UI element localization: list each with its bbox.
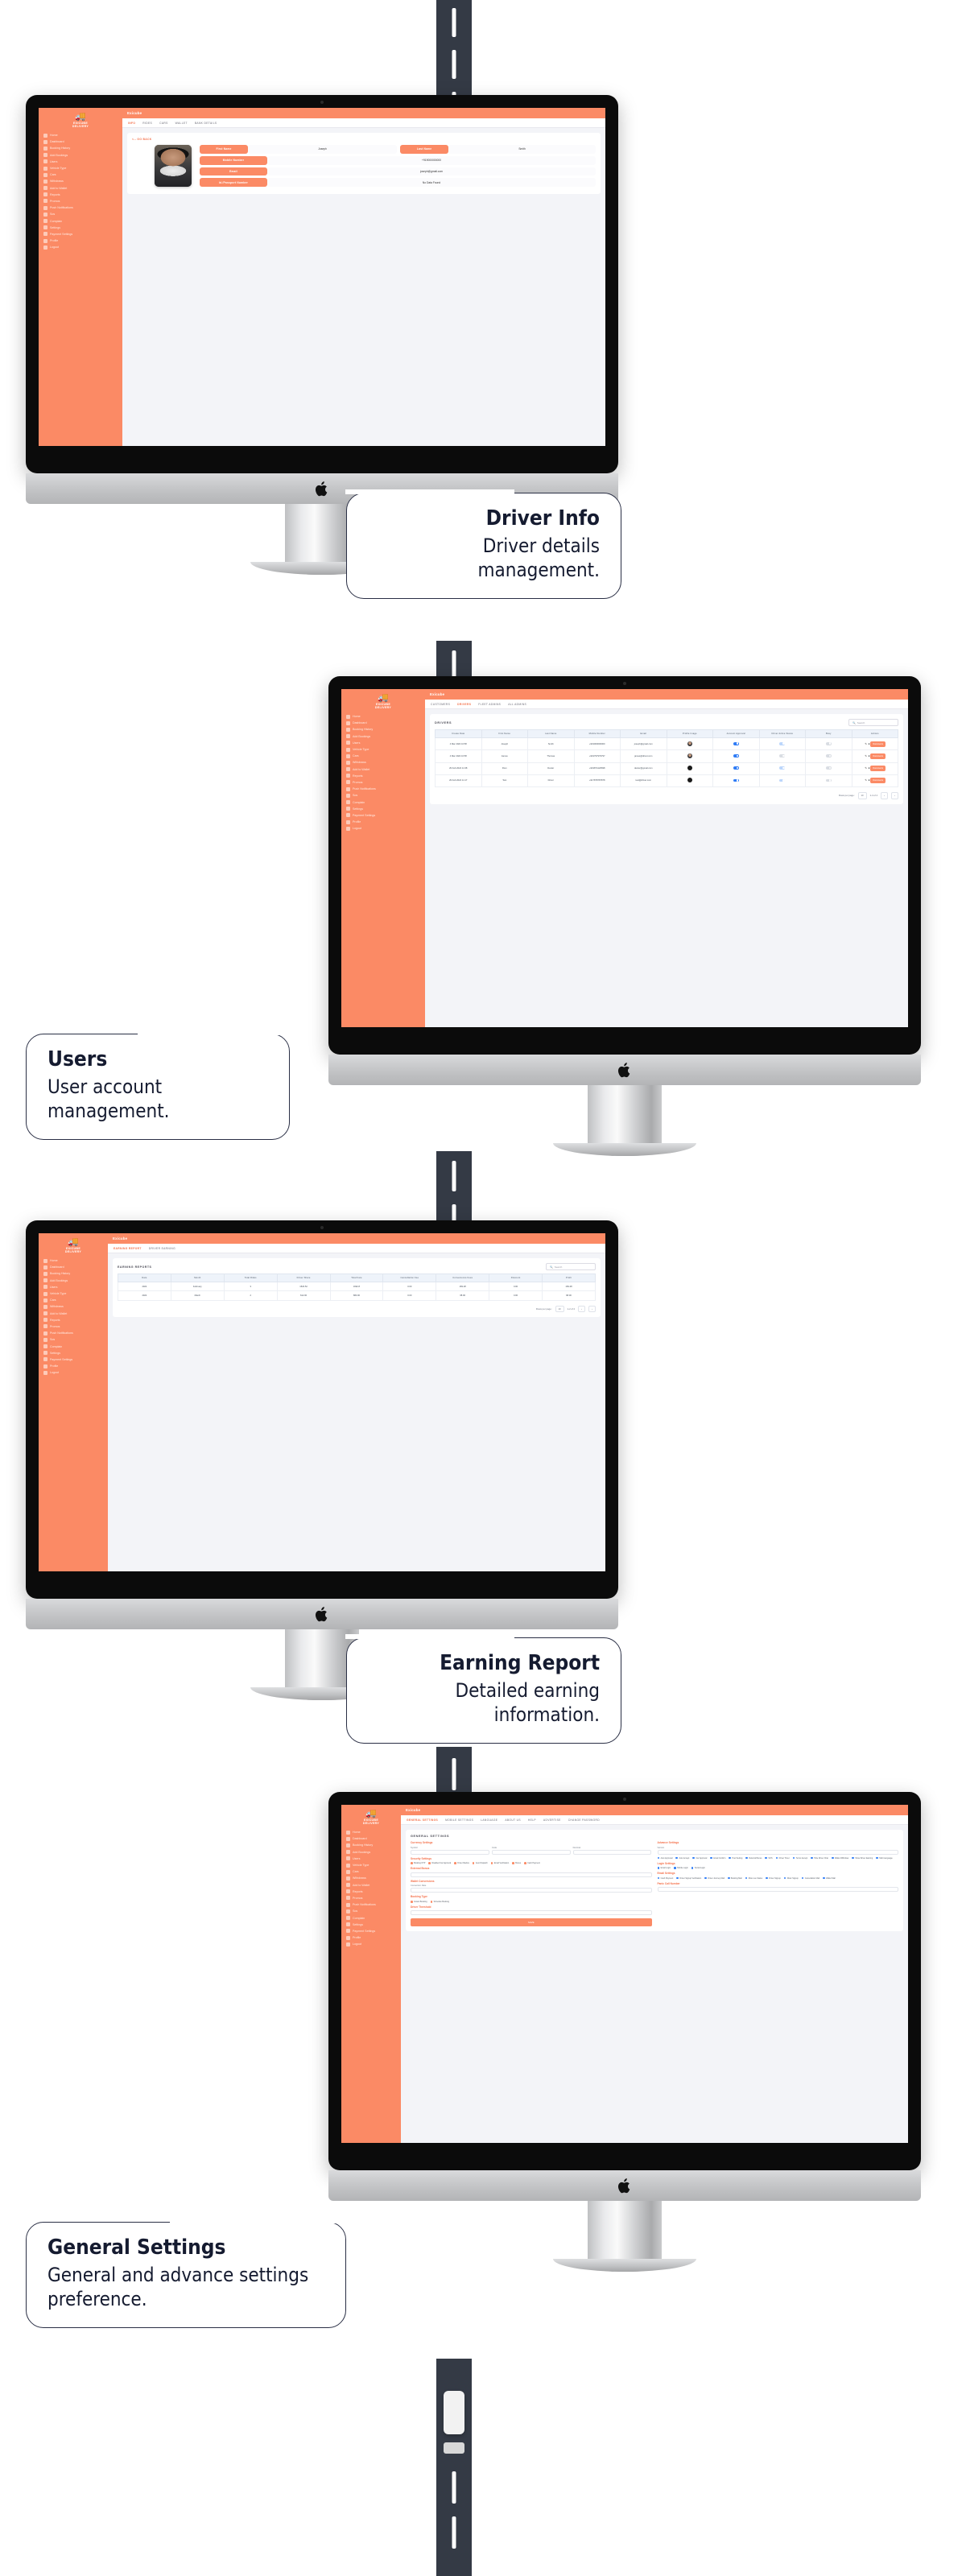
sidebar-item-reports[interactable]: Reports	[39, 192, 122, 198]
option-label: Show Driver Earning	[855, 1857, 873, 1860]
tab-general-settings[interactable]: GENERAL SETTINGS	[407, 1818, 438, 1822]
toggle-approval[interactable]	[733, 766, 739, 770]
sidebar-item-profile[interactable]: Profile	[39, 1363, 108, 1369]
toggle-approval[interactable]	[733, 754, 739, 758]
add-booking-icon	[346, 1850, 350, 1854]
home-icon	[346, 715, 350, 719]
report-icon	[346, 774, 350, 778]
sidebar-item-push-notifications[interactable]: Push Notifications	[39, 204, 122, 211]
checkbox-icon	[658, 1867, 660, 1869]
sidebar-item-add-to-wallet[interactable]: Add to Wallet	[341, 1881, 401, 1888]
sidebar-item-add-bookings[interactable]: Add Bookings	[39, 152, 122, 159]
mobile-number-label: Mobile Number	[200, 156, 267, 165]
last-name-value[interactable]: Smith	[448, 145, 596, 154]
truck-icon: 🚚	[341, 1810, 401, 1818]
tab-change-password[interactable]: CHANGE PASSWORD	[568, 1818, 600, 1822]
sidebar-item-logout[interactable]: Logout	[39, 1369, 108, 1376]
option-email-cash-payment[interactable]: Cash Payment	[658, 1877, 674, 1880]
sidebar-item-payment-settings[interactable]: Payment Settings	[341, 812, 425, 819]
toggle-busy[interactable]	[826, 779, 832, 782]
toggle-approval[interactable]	[733, 779, 739, 782]
tab-earning-report[interactable]: EARNING REPORT	[114, 1247, 142, 1250]
sidebar-item-settings[interactable]: Settings	[39, 1350, 108, 1356]
currency-symbol-label: Symbol	[411, 1847, 489, 1849]
cell-actions[interactable]: ✎●Documents	[852, 762, 898, 774]
delete-icon[interactable]: ●	[869, 778, 870, 782]
sidebar-item-logout[interactable]: Logout	[341, 825, 425, 832]
delete-icon[interactable]: ●	[869, 754, 870, 758]
sidebar-item-reports[interactable]: Reports	[39, 1317, 108, 1323]
cell-active-status[interactable]	[759, 750, 806, 762]
col-total-rides[interactable]: Total Rides	[224, 1274, 277, 1282]
sidebar-item-promos[interactable]: Promos	[341, 1895, 401, 1901]
option-label: Cancellation Mail	[805, 1877, 819, 1880]
sidebar-item-booking-history[interactable]: Booking History	[39, 145, 122, 151]
edit-icon[interactable]: ✎	[865, 754, 867, 758]
general-settings-card: GENERAL SETTINGS Currency Settings Symbo…	[406, 1830, 903, 1931]
checkbox-icon	[658, 1877, 660, 1880]
checkbox-icon	[704, 1877, 707, 1880]
sidebar-item-sos[interactable]: Sos	[39, 1336, 108, 1343]
sidebar-item-label: Logout	[353, 1942, 361, 1946]
sidebar-item-label: Withdraws	[353, 761, 366, 764]
sidebar-item-users[interactable]: Users	[341, 740, 425, 746]
cell-actions[interactable]: ✎●Documents	[852, 738, 898, 750]
next-page-button[interactable]: ›	[891, 792, 898, 799]
option-label: Driver Journey Mail	[708, 1877, 724, 1880]
topbar-title: Exicube	[122, 108, 605, 118]
settings-left-column: Currency Settings Symbol Code Decimal Se…	[411, 1841, 652, 1926]
option-label: Email Confirm	[713, 1857, 725, 1860]
sidebar-item-cars[interactable]: Cars	[39, 1297, 108, 1303]
checkbox-icon	[852, 1857, 854, 1860]
sidebar-item-label: Promos	[50, 200, 60, 203]
cell-busy[interactable]	[806, 750, 852, 762]
currency-code-input[interactable]	[492, 1850, 571, 1855]
sidebar-item-label: Complain	[353, 801, 365, 804]
external-bonus-input[interactable]	[411, 1872, 652, 1877]
sidebar-item-booking-history[interactable]: Booking History	[341, 726, 425, 733]
wallet-icon	[43, 186, 47, 190]
first-name-value[interactable]: Joseph	[248, 145, 397, 154]
documents-button[interactable]: Documents	[870, 741, 885, 747]
car-icon	[43, 173, 47, 177]
tab-customers[interactable]: CUSTOMERS	[431, 703, 450, 706]
sos-icon	[43, 213, 47, 217]
brand-logo: 🚚 EXICUBE DELIVERY	[341, 1805, 401, 1829]
payment-icon	[346, 813, 350, 817]
sidebar-item-home[interactable]: Home	[341, 713, 425, 720]
option-disabled-car-approval[interactable]: Disabled Car Approval	[428, 1862, 451, 1864]
next-page-button[interactable]: ›	[588, 1306, 596, 1313]
delete-icon[interactable]: ●	[869, 766, 870, 770]
option-label: SOS	[769, 1857, 773, 1860]
sidebar-item-profile[interactable]: Profile	[39, 237, 122, 244]
col-convenience-fees[interactable]: Convenience Fees	[436, 1274, 489, 1282]
option-auto-approval[interactable]: Auto Approval	[658, 1857, 673, 1860]
checkbox-icon	[832, 1857, 834, 1860]
home-icon	[43, 134, 47, 138]
cell-account-approval[interactable]	[713, 750, 760, 762]
col-driver-active-status[interactable]: Driver Active Status	[759, 730, 806, 738]
wallet-icon	[346, 1883, 350, 1887]
option-auto-accept[interactable]: Auto Accept	[675, 1857, 689, 1860]
sidebar-item-withdraws[interactable]: Withdraws	[341, 759, 425, 766]
tab-advertise[interactable]: ADVERTISE	[543, 1818, 561, 1822]
option-auto-dispatch[interactable]: Auto Dispatch	[473, 1862, 488, 1864]
tab-rides[interactable]: RIDES	[142, 122, 152, 125]
col-last-name[interactable]: Last Name	[528, 730, 575, 738]
cell-active-status[interactable]	[759, 762, 806, 774]
users-icon	[346, 1856, 350, 1860]
sidebar-item-users[interactable]: Users	[39, 1284, 108, 1290]
option-wallet-withdraw[interactable]: Wallet Withdraw	[832, 1857, 848, 1860]
option-ride-live-status[interactable]: Ride Live Status	[745, 1877, 763, 1880]
complain-icon	[43, 219, 47, 223]
sidebar-item-promos[interactable]: Promos	[341, 779, 425, 786]
sidebar-item-label: Push Notifications	[50, 206, 73, 209]
option-pool-setting[interactable]: Pool Setting	[729, 1857, 742, 1860]
toggle-busy[interactable]	[826, 754, 832, 758]
toggle-active[interactable]	[779, 754, 785, 758]
col-create-date[interactable]: Create Date	[436, 730, 482, 738]
advance-settings-heading: Advance Settings	[658, 1841, 899, 1844]
option-social-login[interactable]: Social Login	[691, 1867, 705, 1869]
prev-page-button[interactable]: ‹	[578, 1306, 585, 1313]
delete-icon[interactable]: ●	[869, 742, 870, 745]
toggle-approval[interactable]	[733, 742, 739, 745]
sidebar-item-logout[interactable]: Logout	[39, 244, 122, 250]
sidebar-item-complain[interactable]: Complain	[341, 1914, 401, 1921]
option-schedule-booking[interactable]: Schedule Booking	[431, 1901, 449, 1903]
documents-button[interactable]: Documents	[870, 753, 885, 759]
sidebar-item-settings[interactable]: Settings	[341, 1922, 401, 1928]
tab-mobile-settings[interactable]: MOBILE SETTINGS	[445, 1818, 473, 1822]
option-mobile-login[interactable]: Mobile Login	[674, 1867, 688, 1869]
sidebar-item-complain[interactable]: Complain	[39, 1343, 108, 1349]
sidebar-item-home[interactable]: Home	[39, 132, 122, 138]
col-account-approval[interactable]: Account Approval	[713, 730, 760, 738]
cell-mobile: +919874126698	[574, 762, 621, 774]
callout-title: Users	[47, 1047, 268, 1073]
currency-symbol-input[interactable]	[411, 1850, 489, 1855]
sidebar-item-reports[interactable]: Reports	[341, 1889, 401, 1895]
tab-info[interactable]: INFO	[128, 122, 135, 125]
option-referral-bonus[interactable]: Referral Bonus	[745, 1857, 762, 1860]
sidebar: 🚚 EXICUBE DELIVERY Home Dashboard Bookin…	[39, 1233, 108, 1571]
cell-active-status[interactable]	[759, 774, 806, 786]
option-driver-timer[interactable]: Driver Timer	[776, 1857, 790, 1860]
cell-actions[interactable]: ✎●Documents	[852, 750, 898, 762]
toggle-active[interactable]	[779, 779, 785, 782]
go-back-link[interactable]: <-- GO BACK	[132, 138, 596, 141]
sidebar-item-label: Complain	[50, 220, 62, 223]
conversion-rate-input[interactable]	[411, 1888, 652, 1893]
sidebar-item-promos[interactable]: Promos	[39, 198, 122, 204]
range-label: 1-4 of 4	[870, 794, 878, 797]
sidebar-item-label: Vehicle Type	[353, 748, 369, 751]
toggle-busy[interactable]	[826, 766, 832, 770]
brand-logo: 🚚 EXICUBE DELIVERY	[39, 108, 122, 132]
sidebar-item-label: Sos	[353, 1909, 357, 1913]
driver-fields: First Name Joseph Last Name Smith Mobile…	[200, 145, 596, 189]
sidebar-item-booking-history[interactable]: Booking History	[341, 1842, 401, 1848]
col-cancellation-fee[interactable]: Cancellation Fee	[383, 1274, 436, 1282]
driver-threshold-heading: Driver Threshold	[411, 1905, 652, 1909]
col-email[interactable]: Email	[621, 730, 667, 738]
car-icon	[43, 1298, 47, 1302]
sidebar-item-withdraws[interactable]: Withdraws	[341, 1875, 401, 1881]
option-hide-driver-chat[interactable]: Hide Driver Chat	[811, 1857, 828, 1860]
checkbox-icon	[823, 1877, 825, 1880]
tab-bank-details[interactable]: BANK DETAILS	[195, 122, 217, 125]
toggle-active[interactable]	[779, 766, 785, 770]
tab-wallet[interactable]: WALLET	[175, 122, 188, 125]
option-multi-language[interactable]: Multi Language	[876, 1857, 892, 1860]
option-instant-booking[interactable]: Instant Booking	[411, 1901, 427, 1903]
option-label: Auto Accept	[679, 1857, 690, 1860]
email-value[interactable]: joseph@gmail.com	[267, 167, 596, 176]
sidebar-item-users[interactable]: Users	[39, 159, 122, 165]
currency-decimal-label: Decimal	[573, 1847, 652, 1849]
tab-cars[interactable]: CARS	[159, 122, 168, 125]
table-title: DRIVERS	[435, 721, 452, 724]
cell-active-status[interactable]	[759, 738, 806, 750]
sidebar-item-dashboard[interactable]: Dashboard	[341, 1835, 401, 1842]
sidebar-item-vehicle-type[interactable]: Vehicle Type	[39, 1290, 108, 1297]
sidebar-item-add-to-wallet[interactable]: Add to Wallet	[39, 1310, 108, 1316]
sidebar-item-push-notifications[interactable]: Push Notifications	[341, 1901, 401, 1908]
edit-icon[interactable]: ✎	[865, 778, 867, 782]
tab-all-admins[interactable]: ALL ADMINS	[508, 703, 526, 706]
checkbox-icon	[692, 1857, 695, 1860]
sidebar-item-sos[interactable]: Sos	[341, 1908, 401, 1914]
documents-button[interactable]: Documents	[870, 778, 885, 783]
sidebar-item-label: Cars	[353, 1870, 359, 1873]
radio-icon	[524, 1862, 526, 1864]
cell-discount: 0.00	[489, 1291, 543, 1300]
mobile-number-value[interactable]: +919000000000	[267, 156, 596, 165]
sidebar-item-label: Cars	[50, 1298, 56, 1302]
sidebar-item-add-to-wallet[interactable]: Add to Wallet	[39, 184, 122, 191]
option-booking-mail[interactable]: Booking Mail	[728, 1877, 742, 1880]
option-booking-otp[interactable]: Booking OTP	[411, 1862, 425, 1864]
sidebar-item-add-bookings[interactable]: Add Bookings	[341, 733, 425, 740]
sidebar-item-push-notifications[interactable]: Push Notifications	[39, 1330, 108, 1336]
sidebar-item-settings[interactable]: Settings	[39, 225, 122, 231]
col-busy[interactable]: Busy	[806, 730, 852, 738]
sidebar-item-label: Users	[353, 741, 360, 745]
cell-last-name: Driver	[528, 774, 575, 786]
sidebar-item-home[interactable]: Home	[341, 1829, 401, 1835]
dashboard-icon	[346, 721, 350, 725]
passport-number-value[interactable]: No Data Found	[267, 178, 596, 187]
cell-busy[interactable]	[806, 774, 852, 786]
search-input[interactable]: 🔍 Search	[546, 1263, 596, 1270]
edit-icon[interactable]: ✎	[865, 742, 867, 745]
save-button[interactable]: SAVE	[411, 1918, 652, 1926]
topbar-title: Exicube	[108, 1233, 605, 1244]
sidebar-item-complain[interactable]: Complain	[341, 799, 425, 805]
sidebar-item-label: Reports	[353, 1890, 363, 1893]
sidebar-item-label: Home	[50, 134, 58, 137]
sidebar-item-logout[interactable]: Logout	[341, 1941, 401, 1947]
tabbar-earning-report: EARNING REPORT DRIVER EARNING	[108, 1244, 605, 1253]
wallet-conversions-heading: Wallet Conversions	[411, 1880, 652, 1883]
col-profile-image[interactable]: Profile Image	[667, 730, 713, 738]
rows-per-page-select[interactable]: 10	[555, 1306, 564, 1313]
table-row: 29 Feb 2024 11:17 Test Driver +917878787…	[436, 774, 898, 786]
sidebar-item-label: Users	[50, 1286, 57, 1289]
sidebar-item-label: Payment Settings	[353, 814, 375, 817]
search-input[interactable]: 🔍 Search	[848, 719, 898, 726]
currency-decimal-input[interactable]	[573, 1850, 652, 1855]
bell-icon	[346, 787, 350, 791]
sidebar-item-sos[interactable]: Sos	[39, 211, 122, 217]
tab-driver-earning[interactable]: DRIVER EARNING	[149, 1247, 175, 1250]
bell-icon	[43, 206, 47, 210]
sidebar-item-label: Push Notifications	[50, 1331, 73, 1335]
sidebar-item-vehicle-type[interactable]: Vehicle Type	[341, 746, 425, 753]
option-driver-signup[interactable]: Driver Signup	[766, 1877, 781, 1880]
tab-drivers[interactable]: DRIVERS	[457, 703, 471, 706]
sidebar-item-cars[interactable]: Cars	[39, 171, 122, 178]
option-driver-signup-verification[interactable]: Driver Signup Verification	[676, 1877, 701, 1880]
profile-icon	[346, 820, 350, 824]
sidebar-item-users[interactable]: Users	[341, 1856, 401, 1862]
sidebar-item-vehicle-type[interactable]: Vehicle Type	[39, 165, 122, 171]
option-car-approval[interactable]: Car Approval	[692, 1857, 707, 1860]
sidebar-item-withdraws[interactable]: Withdraws	[39, 178, 122, 184]
col-mobile-number[interactable]: Mobile Number	[574, 730, 621, 738]
sidebar-item-promos[interactable]: Promos	[39, 1323, 108, 1330]
table-row: 29 Feb 2024 11:38 Rom Dexter +9198741266…	[436, 762, 898, 774]
sidebar-item-dashboard[interactable]: Dashboard	[39, 1264, 108, 1270]
col-total-fare[interactable]: Total Fare	[330, 1274, 383, 1282]
option-terms-accept[interactable]: Terms Accept	[793, 1857, 807, 1860]
sidebar-item-profile[interactable]: Profile	[341, 1934, 401, 1941]
option-label: Booking OTP	[414, 1862, 425, 1864]
security-options: Booking OTP Disabled Car Approval Driver…	[411, 1862, 652, 1864]
callout-title: Earning Report	[368, 1651, 600, 1677]
option-sos[interactable]: SOS	[765, 1857, 772, 1860]
tab-help[interactable]: HELP	[528, 1818, 536, 1822]
cell-busy[interactable]	[806, 738, 852, 750]
tab-about-us[interactable]: ABOUT US	[505, 1818, 521, 1822]
col-driver-share[interactable]: Driver Share	[277, 1274, 330, 1282]
cell-account-approval[interactable]	[713, 774, 760, 786]
webcam-dot	[623, 682, 626, 685]
option-driver-journey-mail[interactable]: Driver Journey Mail	[704, 1877, 724, 1880]
tab-fleet-admins[interactable]: FLEET ADMINS	[478, 703, 501, 706]
sidebar-item-label: Users	[353, 1857, 360, 1860]
sidebar-item-add-to-wallet[interactable]: Add to Wallet	[341, 766, 425, 772]
cell-busy[interactable]	[806, 762, 852, 774]
option-email-confirm[interactable]: Email Confirm	[710, 1857, 725, 1860]
cell-create-date: 29 Feb 2024 11:17	[436, 774, 482, 786]
col-first-name[interactable]: First Name	[481, 730, 528, 738]
option-email-login[interactable]: Email Login	[658, 1867, 671, 1869]
cell-account-approval[interactable]	[713, 738, 760, 750]
sidebar-item-booking-history[interactable]: Booking History	[39, 1270, 108, 1277]
sidebar-item-add-bookings[interactable]: Add Bookings	[39, 1278, 108, 1284]
sidebar-item-cars[interactable]: Cars	[341, 753, 425, 759]
option-driver-radius[interactable]: Driver Radius	[454, 1862, 469, 1864]
sidebar-item-label: Settings	[50, 226, 60, 229]
toggle-busy[interactable]	[826, 742, 832, 745]
sidebar-item-label: Add to Wallet	[353, 768, 369, 771]
option-rider-signup[interactable]: Rider Signup	[784, 1877, 799, 1880]
sidebar-item-withdraws[interactable]: Withdraws	[39, 1303, 108, 1310]
sidebar-item-payment-settings[interactable]: Payment Settings	[39, 1356, 108, 1363]
truck-icon: 🚚	[341, 694, 425, 703]
prev-page-button[interactable]: ‹	[881, 792, 888, 799]
sidebar-item-settings[interactable]: Settings	[341, 806, 425, 812]
option-show-driver-earning[interactable]: Show Driver Earning	[852, 1857, 873, 1860]
sidebar-item-complain[interactable]: Complain	[39, 217, 122, 224]
rows-per-page-select[interactable]: 10	[858, 792, 867, 799]
col-date[interactable]: Date	[118, 1274, 171, 1282]
driver-threshold-input[interactable]	[411, 1910, 652, 1915]
sidebar-item-push-notifications[interactable]: Push Notifications	[341, 786, 425, 792]
sidebar-item-home[interactable]: Home	[39, 1257, 108, 1264]
sidebar-item-sos[interactable]: Sos	[341, 792, 425, 799]
option-cancellation-mail[interactable]: Cancellation Mail	[802, 1877, 819, 1880]
toggle-active[interactable]	[779, 742, 785, 745]
sidebar-item-profile[interactable]: Profile	[341, 819, 425, 825]
sidebar-item-label: Add Bookings	[50, 1279, 68, 1282]
users-icon	[346, 741, 350, 745]
sos-icon	[43, 1338, 47, 1342]
sidebar-item-add-bookings[interactable]: Add Bookings	[341, 1849, 401, 1856]
documents-button[interactable]: Documents	[870, 766, 885, 771]
table-pager: Rows per page: 10 1-4 of 4 ‹ ›	[435, 792, 898, 799]
sidebar-item-reports[interactable]: Reports	[341, 773, 425, 779]
sidebar-item-payment-settings[interactable]: Payment Settings	[39, 231, 122, 237]
sidebar-item-label: Vehicle Type	[50, 1292, 66, 1295]
version-input[interactable]	[658, 1850, 899, 1855]
sidebar-item-label: Payment Settings	[50, 1358, 72, 1361]
report-title: EARNING REPORTS	[118, 1265, 151, 1269]
sidebar-item-vehicle-type[interactable]: Vehicle Type	[341, 1862, 401, 1868]
option-wallet-mail[interactable]: Wallet Mail	[823, 1877, 836, 1880]
sidebar-item-dashboard[interactable]: Dashboard	[341, 720, 425, 726]
option-bonus[interactable]: Bonus	[512, 1862, 521, 1864]
sidebar-item-label: Profile	[353, 1936, 361, 1939]
cell-actions[interactable]: ✎●Documents	[852, 774, 898, 786]
option-email-verification[interactable]: Email Verification	[491, 1862, 509, 1864]
col-discount[interactable]: Discount	[489, 1274, 543, 1282]
option-label: Cash Payment	[527, 1862, 540, 1864]
sidebar-item-dashboard[interactable]: Dashboard	[39, 138, 122, 145]
col-actions[interactable]: Actions	[852, 730, 898, 738]
option-cash-payment[interactable]: Cash Payment	[524, 1862, 540, 1864]
sidebar-item-label: Home	[353, 715, 361, 718]
history-icon	[43, 1272, 47, 1276]
tab-language[interactable]: LANGUAGE	[481, 1818, 497, 1822]
cell-total-rides: 3	[224, 1282, 277, 1291]
sidebar-item-label: Add Bookings	[353, 735, 370, 738]
cell-account-approval[interactable]	[713, 762, 760, 774]
sidebar-item-label: Reports	[353, 774, 363, 778]
col-profit[interactable]: Profit	[543, 1274, 596, 1282]
col-month[interactable]: Month	[171, 1274, 224, 1282]
sidebar-item-cars[interactable]: Cars	[341, 1868, 401, 1875]
sidebar-item-payment-settings[interactable]: Payment Settings	[341, 1928, 401, 1934]
panic-call-input[interactable]	[658, 1887, 899, 1892]
car-icon	[346, 1870, 350, 1874]
edit-icon[interactable]: ✎	[865, 766, 867, 770]
